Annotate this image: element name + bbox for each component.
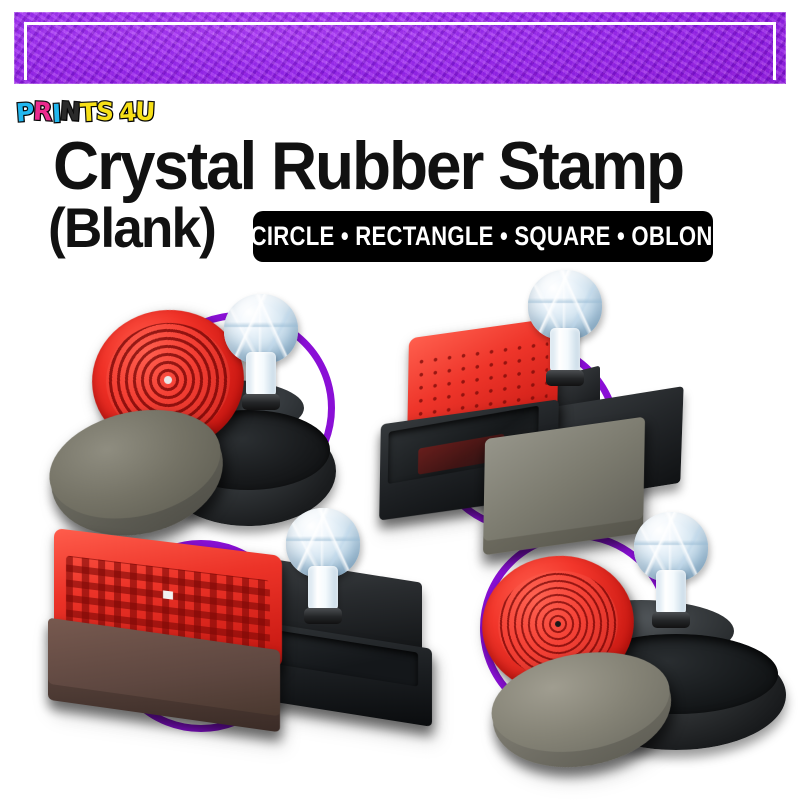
logo-letter-s: S: [95, 99, 113, 125]
banner-inner-border: [24, 22, 776, 80]
product-square-stamp[interactable]: [380, 280, 710, 550]
crystal-knob-square: [528, 270, 602, 390]
rectangle-red-pad-mark: [163, 591, 173, 600]
crystal-collar: [304, 608, 342, 624]
logo-letter-t: T: [79, 100, 96, 126]
product-circle-stamp[interactable]: [48, 294, 348, 544]
product-rectangle-stamp[interactable]: [42, 518, 412, 748]
crystal-knob-oblong: [634, 512, 708, 632]
crystal-stem: [656, 570, 686, 616]
logo-letter-p: P: [15, 99, 34, 125]
product-oblong-stamp[interactable]: 3049: [470, 518, 790, 758]
logo-letter-u: U: [135, 99, 156, 125]
shapes-badge: • CIRCLE • RECTANGLE • SQUARE • OBLONG: [253, 211, 713, 262]
crystal-collar: [242, 394, 280, 410]
product-photo-stage: 3049: [0, 268, 800, 800]
page-subtitle: (Blank): [48, 200, 215, 256]
shapes-badge-label: • CIRCLE • RECTANGLE • SQUARE • OBLONG: [253, 223, 713, 250]
crystal-knob-circle: [224, 294, 298, 414]
crystal-stem: [246, 352, 276, 398]
page-title: Crystal Rubber Stamp: [53, 132, 683, 200]
product-advert-page: P R I N T S 4 U Crystal Rubber Stamp (Bl…: [0, 0, 800, 800]
crystal-knob-rectangle: [286, 508, 360, 628]
logo-letter-r: R: [33, 99, 53, 125]
crystal-collar: [652, 612, 690, 628]
crystal-collar: [546, 370, 584, 386]
crystal-stem: [308, 566, 338, 612]
crystal-stem: [550, 328, 580, 374]
brand-logo[interactable]: P R I N T S 4 U: [16, 94, 155, 124]
logo-letter-n: N: [59, 98, 81, 124]
top-purple-banner: [14, 12, 786, 84]
